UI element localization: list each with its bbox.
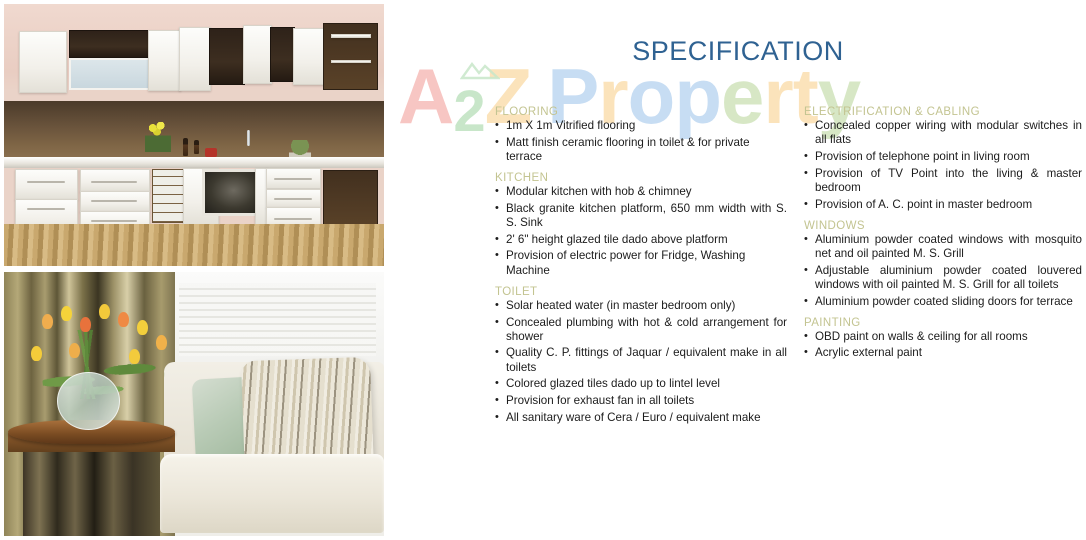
list-item: Acrylic external paint <box>804 346 1082 360</box>
bottle <box>183 138 188 156</box>
yellow-flowers <box>145 122 171 152</box>
shelf-board <box>331 34 371 38</box>
tulip-bloom <box>80 317 91 332</box>
section-title-flooring: FLOORING <box>495 106 787 118</box>
wine-rack <box>152 169 184 223</box>
cabinet-handle <box>274 218 312 220</box>
list-item: Provision of electric power for Fridge, … <box>495 249 787 277</box>
section-flooring: FLOORING 1m X 1m Vitrified flooring Matt… <box>495 106 787 164</box>
spec-list-painting: OBD paint on walls & ceiling for all roo… <box>804 330 1082 361</box>
tulip-bloom <box>61 306 72 321</box>
section-title-windows: WINDOWS <box>804 220 1082 232</box>
table-pedestal <box>23 449 160 536</box>
list-item: OBD paint on walls & ceiling for all roo… <box>804 330 1082 344</box>
list-item: 1m X 1m Vitrified flooring <box>495 119 787 133</box>
list-item: Modular kitchen with hob & chimney <box>495 185 787 199</box>
tulip-bloom <box>69 343 80 358</box>
cabinet-handle <box>274 198 312 200</box>
tulip-bloom <box>31 346 42 361</box>
glass-cabinet-door <box>69 58 153 90</box>
spec-list-toilet: Solar heated water (in master bedroom on… <box>495 299 787 425</box>
list-item: Provision for exhaust fan in all toilets <box>495 394 787 408</box>
upper-cabinet <box>179 27 211 92</box>
spec-list-windows: Aluminium powder coated windows with mos… <box>804 233 1082 309</box>
upper-cabinet <box>19 31 67 93</box>
watermark-letter-2: 2 <box>453 79 484 144</box>
base-drawer <box>15 169 78 200</box>
kitchen-lower-cabinets <box>4 166 384 232</box>
upper-cabinet <box>293 28 325 85</box>
list-item: Provision of TV Point into the living & … <box>804 167 1082 195</box>
section-toilet: TOILET Solar heated water (in master bed… <box>495 286 787 425</box>
cabinet-handle <box>274 178 312 180</box>
sink-tap <box>247 130 250 146</box>
upper-cabinet <box>243 25 272 84</box>
spec-column-left: FLOORING 1m X 1m Vitrified flooring Matt… <box>495 106 787 433</box>
section-windows: WINDOWS Aluminium powder coated windows … <box>804 220 1082 309</box>
open-dark-shelf <box>270 27 295 82</box>
kitchen-wooden-floor <box>4 224 384 266</box>
tulip-bloom <box>42 314 53 329</box>
list-item: Provision of telephone point in living r… <box>804 150 1082 164</box>
tulip-bloom <box>156 335 167 350</box>
section-title-kitchen: KITCHEN <box>495 172 787 184</box>
list-item: All sanitary ware of Cera / Euro / equiv… <box>495 411 787 425</box>
specification-page: A2ZProperty SPECIFICATION FLOORING 1m X … <box>0 0 1086 540</box>
tulip-bloom <box>99 304 110 319</box>
corner-open-shelf <box>323 170 378 228</box>
list-item: Concealed plumbing with hot & cold arran… <box>495 316 787 344</box>
page-title: SPECIFICATION <box>390 36 1086 67</box>
specification-content: A2ZProperty SPECIFICATION FLOORING 1m X … <box>390 0 1086 540</box>
list-item: Colored glazed tiles dado up to lintel l… <box>495 377 787 391</box>
list-item: Matt finish ceramic flooring in toilet &… <box>495 136 787 164</box>
shelf-board <box>331 60 371 64</box>
cabinet-handle <box>91 220 137 222</box>
red-pot <box>205 148 217 157</box>
living-room-photo <box>4 272 384 536</box>
photo-column <box>0 0 390 540</box>
list-item: Quality C. P. fittings of Jaquar / equiv… <box>495 346 787 374</box>
list-item: Black granite kitchen platform, 650 mm w… <box>495 202 787 230</box>
list-item: Aluminium powder coated windows with mos… <box>804 233 1082 261</box>
open-dark-shelf <box>69 30 151 59</box>
list-item: Provision of A. C. point in master bedro… <box>804 198 1082 212</box>
section-title-painting: PAINTING <box>804 317 1082 329</box>
list-item: Concealed copper wiring with modular swi… <box>804 119 1082 147</box>
open-dark-shelf <box>209 28 245 85</box>
upper-cabinet <box>148 30 180 92</box>
window-blind <box>179 283 377 357</box>
section-kitchen: KITCHEN Modular kitchen with hob & chimn… <box>495 172 787 278</box>
list-item: Aluminium powder coated sliding doors fo… <box>804 295 1082 309</box>
tulip-bloom <box>129 349 140 364</box>
section-title-toilet: TOILET <box>495 286 787 298</box>
tulip-bloom <box>118 312 129 327</box>
list-item: Adjustable aluminium powder coated louve… <box>804 264 1082 292</box>
glass-vase <box>57 372 120 429</box>
spec-list-flooring: 1m X 1m Vitrified flooring Matt finish c… <box>495 119 787 164</box>
modular-kitchen-photo <box>4 4 384 266</box>
spec-list-electrification: Concealed copper wiring with modular swi… <box>804 119 1082 212</box>
section-title-electrification: ELECTRIFICATION & CABLING <box>804 106 1082 118</box>
section-electrification-cabling: ELECTRIFICATION & CABLING Concealed copp… <box>804 106 1082 212</box>
section-painting: PAINTING OBD paint on walls & ceiling fo… <box>804 317 1082 361</box>
kitchen-upper-cabinets <box>4 25 384 104</box>
sofa-seat-cushion <box>160 454 384 533</box>
tulip-bloom <box>137 320 148 335</box>
list-item: 2' 6" height glazed tile dado above plat… <box>495 233 787 247</box>
corner-open-shelf <box>323 23 378 89</box>
list-item: Solar heated water (in master bedroom on… <box>495 299 787 313</box>
spec-column-right: ELECTRIFICATION & CABLING Concealed copp… <box>804 106 1082 369</box>
bottle <box>194 140 199 154</box>
spec-list-kitchen: Modular kitchen with hob & chimney Black… <box>495 185 787 278</box>
cabinet-handle <box>27 181 65 183</box>
cabinet-handle <box>91 181 137 183</box>
